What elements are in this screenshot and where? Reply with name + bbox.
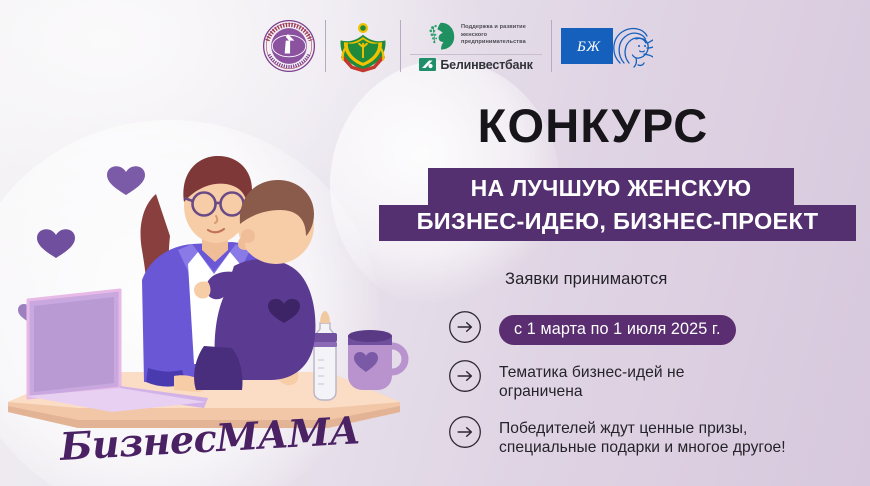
tagline-line-1: Поддержка и развитие [461,24,526,31]
logo-national-coat-emblem [335,18,391,74]
headline-band-line-1: НА ЛУЧШУЮ ЖЕНСКУЮ [428,168,794,205]
application-period-badge: с 1 марта по 1 июля 2025 г. [499,315,736,345]
coffee-mug-icon [348,330,405,390]
list-item: с 1 марта по 1 июля 2025 г. [448,310,858,345]
logo-inner-rule [410,54,542,55]
tagline-line-2: женского [461,32,526,39]
logo-belinvestbank-women-support: Поддержка и развитие женского предприним… [410,21,542,72]
logo-divider [325,20,326,72]
list-item: Победителей ждут ценные призы, специальн… [448,414,858,457]
applications-subhead: Заявки принимаются [505,270,667,289]
page-title-text: КОНКУРС [478,102,709,149]
wreath-emblem-icon [335,18,391,74]
list-item-line-1: Победителей ждут ценные призы, [499,419,786,438]
list-item-line-2: специальные подарки и многое другое! [499,438,786,457]
baby-bottle-icon [313,311,337,400]
heart-icon [37,229,75,258]
arrow-right-circle-icon [448,310,482,344]
headline-band-line-2: БИЗНЕС-ИДЕЮ, БИЗНЕС-ПРОЕКТ [379,205,856,241]
belinvestbank-row: Белинвестбанк [419,58,532,72]
list-item: Тематика бизнес-идей не ограничена [448,358,858,401]
women-support-tagline: Поддержка и развитие женского предприним… [461,24,526,46]
logo-belarusian-union-of-women: БЖ [561,21,653,71]
arrow-right-circle-icon [448,359,482,393]
list-item-body: Тематика бизнес-идей не ограничена [499,358,684,401]
promo-banner: Поддержка и развитие женского предприним… [0,0,870,486]
logo-divider [400,20,401,72]
arrow-right-circle-icon [448,415,482,449]
women-support-logo-row: Поддержка и развитие женского предприним… [426,21,526,51]
list-item-body: с 1 марта по 1 июля 2025 г. [499,310,736,345]
info-bullet-list: с 1 марта по 1 июля 2025 г. Тематика биз… [448,310,858,470]
bsj-monogram: БЖ [576,39,601,55]
logo-divider [551,20,552,72]
belinvestbank-name: Белинвестбанк [440,58,532,72]
woman-profile-leaf-icon [426,21,456,51]
belinvestbank-mark-icon [419,58,436,71]
partner-logo-bar: Поддержка и развитие женского предприним… [262,10,652,82]
list-item-line-1: Тематика бизнес-идей не [499,363,684,382]
tagline-line-3: предпринимательства [461,39,526,46]
bsj-woman-face-icon: БЖ [561,21,653,71]
heart-icon [107,166,145,195]
round-seal-icon [262,19,316,73]
list-item-line-2: ограничена [499,382,684,401]
list-item-body: Победителей ждут ценные призы, специальн… [499,414,786,457]
logo-belarusian-republican-emblem-round [262,19,316,73]
